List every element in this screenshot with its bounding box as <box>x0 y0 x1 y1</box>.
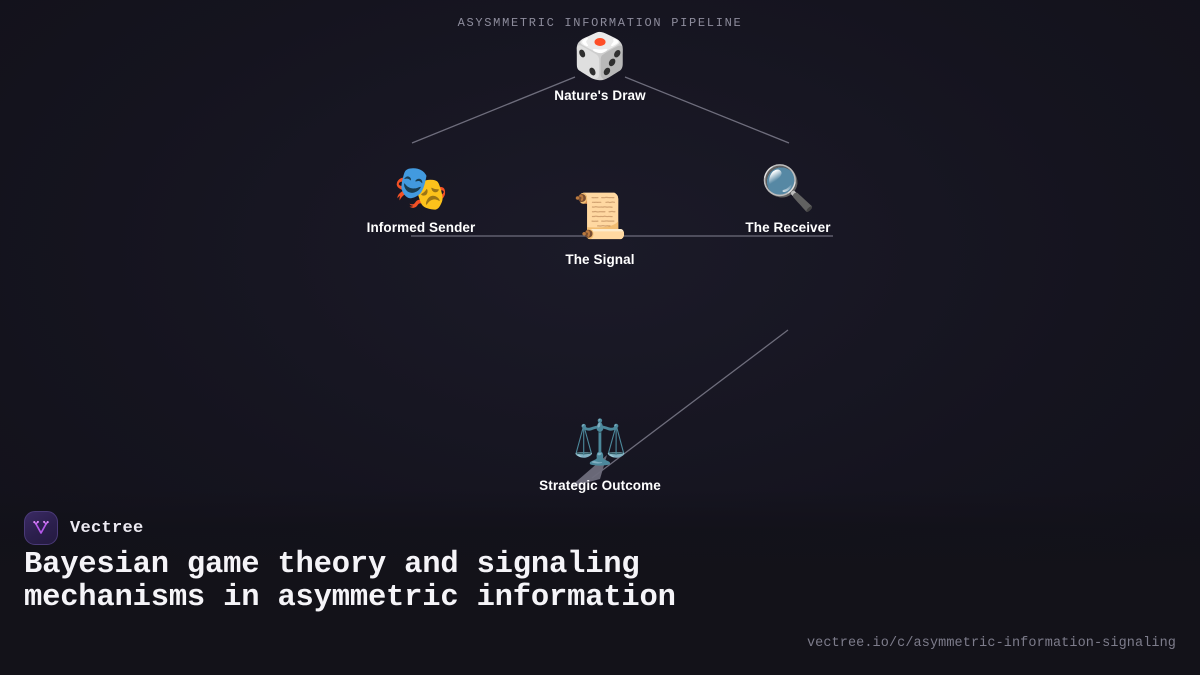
node-label-signal: The Signal <box>515 252 685 267</box>
diagram-node-signal[interactable]: 📜 The Signal <box>515 192 685 267</box>
game-die-icon: 🎲 <box>515 32 685 84</box>
vectree-logo-icon <box>24 511 58 545</box>
brand: Vectree <box>24 511 144 545</box>
diagram-node-sender[interactable]: 🎭 Informed Sender <box>336 164 506 235</box>
share-card: ASYSMMETRIC INFORMATION PIPELINE 🎲 Natur… <box>0 0 1200 675</box>
magnifying-glass-icon: 🔍 <box>703 164 873 216</box>
node-label-nature: Nature's Draw <box>515 88 685 103</box>
diagram-title: ASYSMMETRIC INFORMATION PIPELINE <box>0 16 1200 30</box>
diagram-node-outcome[interactable]: ⚖️ Strategic Outcome <box>515 418 685 493</box>
footer-url: vectree.io/c/asymmetric-information-sign… <box>807 636 1176 651</box>
node-label-receiver: The Receiver <box>703 220 873 235</box>
diagram-node-receiver[interactable]: 🔍 The Receiver <box>703 164 873 235</box>
node-label-sender: Informed Sender <box>336 220 506 235</box>
scroll-icon: 📜 <box>515 192 685 244</box>
page-title: Bayesian game theory and signaling mecha… <box>24 549 814 614</box>
performing-arts-icon: 🎭 <box>336 164 506 216</box>
diagram-node-nature[interactable]: 🎲 Nature's Draw <box>515 32 685 103</box>
balance-scale-icon: ⚖️ <box>515 418 685 470</box>
brand-name: Vectree <box>70 519 144 538</box>
vectree-logo-glyph <box>31 518 51 538</box>
